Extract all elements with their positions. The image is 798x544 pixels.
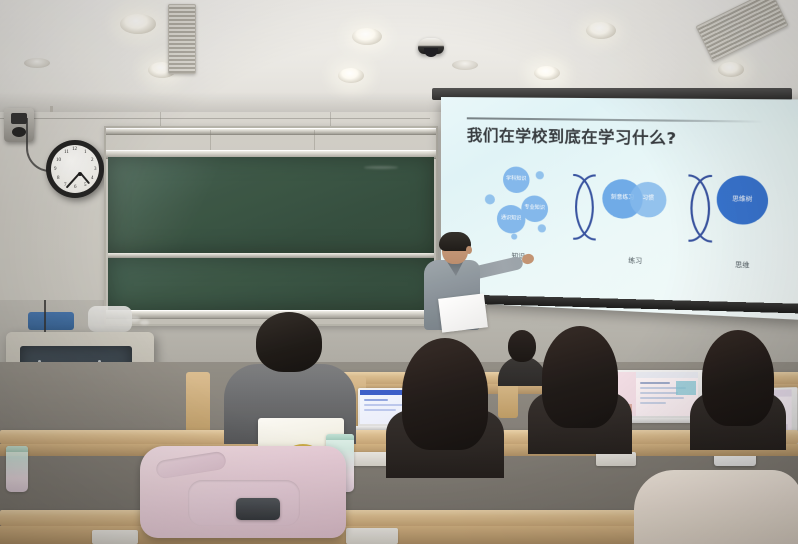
clock-numeral: 10 [56, 158, 61, 163]
desk-modesty-panel [92, 530, 138, 544]
laptop-ui-line [640, 382, 670, 384]
bottle-cap [6, 446, 28, 452]
blackboard-panel-upper [108, 157, 434, 253]
ceiling-light [586, 22, 616, 39]
bubble-knowledge-1: 学科知识 [503, 166, 529, 193]
bubble-knowledge-dot-a [485, 194, 495, 204]
ceiling-light [534, 66, 560, 80]
blackboard-header-rail [106, 128, 436, 135]
ceiling-light [718, 62, 744, 77]
bubble-label: 学科知识 [506, 177, 526, 183]
blackboard-panel-lower [108, 258, 434, 310]
bubble-label: 通识知识 [501, 216, 521, 222]
clock-numeral: 11 [64, 150, 69, 155]
desk-modesty-panel [346, 528, 398, 544]
laptop-ui-line [640, 392, 678, 394]
clock-numeral: 9 [54, 167, 57, 172]
clock-face: 12 1 2 3 4 5 6 7 8 9 10 11 [51, 145, 99, 193]
podium-plastic-bag [88, 306, 132, 332]
chalk-dust [140, 320, 149, 325]
green-blackboard [104, 126, 438, 326]
black-pouch [236, 498, 280, 520]
bubble-practice-2: 习惯 [630, 181, 667, 217]
student-long-hair-center [528, 326, 632, 454]
laptop-ui-line [364, 399, 388, 401]
bubble-label: 专业知识 [524, 206, 545, 212]
wall-seam [0, 118, 430, 119]
water-bottle-secondary [6, 446, 28, 492]
ceiling-light [120, 14, 156, 34]
clock-numeral: 5 [84, 183, 87, 188]
ceiling-air-vent [168, 4, 196, 74]
slide-title-rule [467, 117, 764, 122]
lecturer-ear [466, 246, 472, 254]
ceiling-light [338, 68, 364, 83]
student-hair [542, 326, 618, 428]
desk-modesty-panel [348, 452, 388, 466]
desk-modesty-panel [596, 452, 636, 466]
laptop-ui-toolbar [636, 372, 698, 378]
slide-diagram: 学科知识 专业知识 通识知识 [465, 159, 784, 305]
group-label-practice: 练习 [617, 254, 653, 266]
student-long-hair-right [690, 330, 786, 450]
ceiling-light [352, 28, 382, 45]
clock-numeral: 12 [72, 147, 77, 152]
lecturer-paper [438, 293, 488, 332]
backpack-strap [155, 451, 227, 480]
clock-numeral: 3 [94, 167, 97, 172]
chalk-smudge [364, 166, 398, 169]
student-shoulders [634, 470, 798, 544]
podium-cable [44, 300, 46, 336]
podium-equipment [28, 312, 74, 330]
clock-numeral: 8 [57, 176, 60, 181]
bubble-knowledge-dot-c [538, 224, 546, 232]
clock-numeral: 2 [91, 158, 94, 163]
blackboard-track-seam [314, 130, 315, 150]
student-hair [702, 330, 774, 426]
clock-numeral: 6 [74, 185, 77, 190]
blackboard-track-seam [210, 130, 211, 150]
bubble-knowledge-dot-b [536, 171, 544, 179]
speaker-grill [11, 113, 27, 124]
speaker-cone [12, 127, 26, 137]
pink-backpack [140, 446, 346, 538]
security-camera-icon [418, 38, 444, 54]
clock-center-pin [78, 172, 82, 176]
smoke-detector [24, 58, 50, 68]
bubble-knowledge-dot-d [511, 233, 517, 239]
clock-numeral: 1 [84, 150, 87, 155]
bubble-label: 思维树 [732, 196, 752, 203]
bubble-thinking-1: 思维树 [717, 175, 768, 225]
lecturer [416, 234, 502, 330]
bubble-label: 习惯 [642, 196, 654, 202]
laptop-ui-line [640, 397, 684, 399]
student-center-front [386, 338, 504, 478]
group-label-thinking: 思维 [723, 258, 761, 270]
bubble-knowledge-3: 通识知识 [497, 205, 525, 234]
student-hair [402, 338, 488, 450]
laptop-ui-line [640, 402, 666, 404]
smoke-detector [452, 60, 478, 70]
wall-clock: 12 1 2 3 4 5 6 7 8 9 10 11 [46, 140, 104, 198]
clock-numeral: 4 [91, 176, 94, 181]
bottle-cap [326, 434, 354, 440]
classroom-photo: 12 1 2 3 4 5 6 7 8 9 10 11 [0, 0, 798, 544]
student-hair [256, 312, 322, 372]
slide-title: 我们在学校到底在学习什么? [467, 123, 677, 149]
student-far-right [634, 452, 798, 544]
